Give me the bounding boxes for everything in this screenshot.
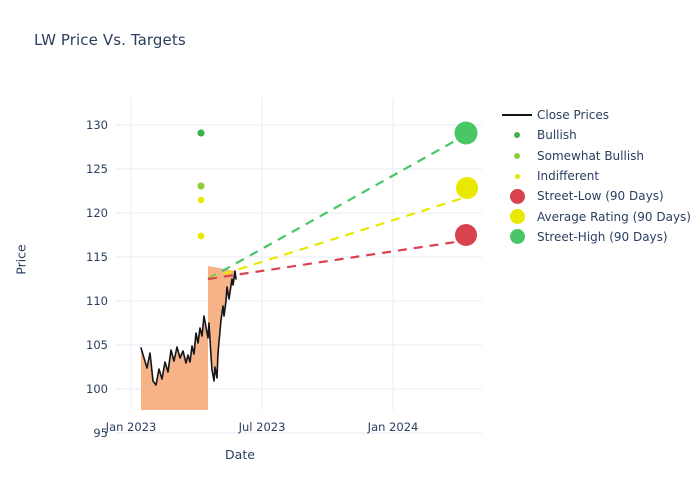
ytick-label: 130 — [48, 118, 108, 132]
legend-item-average-rating[interactable]: Average Rating (90 Days) — [500, 206, 700, 226]
dot-icon — [500, 174, 534, 179]
legend-item-label: Average Rating (90 Days) — [534, 210, 691, 224]
legend-item-street-high[interactable]: Street-High (90 Days) — [500, 227, 700, 247]
legend-item-close-prices[interactable]: Close Prices — [500, 105, 700, 125]
ytick-label: 110 — [48, 294, 108, 308]
legend-item-street-low[interactable]: Street-Low (90 Days) — [500, 186, 700, 206]
projection-line-street-low — [208, 241, 462, 279]
y-axis-title: Price — [14, 230, 29, 290]
scatter-point-somewhat-bullish — [197, 182, 204, 189]
dot-icon — [500, 132, 534, 138]
legend-item-label: Street-Low (90 Days) — [534, 189, 664, 203]
legend-item-indifferent[interactable]: Indifferent — [500, 166, 700, 186]
legend-item-label: Somewhat Bullish — [534, 149, 644, 163]
scatter-point-indifferent-1 — [198, 197, 204, 203]
legend-item-label: Close Prices — [534, 108, 609, 122]
projection-line-street-high — [208, 137, 462, 279]
chart-root: LW Price Vs. Targets — [0, 0, 700, 500]
line-icon — [500, 114, 534, 116]
ytick-label: 115 — [48, 250, 108, 264]
scatter-point-indifferent-2 — [198, 233, 205, 240]
legend-item-somewhat-bullish[interactable]: Somewhat Bullish — [500, 146, 700, 166]
xtick-label: Jul 2023 — [212, 420, 312, 434]
ytick-label: 125 — [48, 162, 108, 176]
xtick-label: Jan 2023 — [81, 420, 181, 434]
legend-item-label: Bullish — [534, 128, 577, 142]
legend-item-bullish[interactable]: Bullish — [500, 125, 700, 145]
ytick-label: 120 — [48, 206, 108, 220]
ytick-label: 100 — [48, 382, 108, 396]
target-marker-average-rating — [456, 177, 478, 199]
dot-icon — [500, 229, 534, 244]
legend-item-label: Indifferent — [534, 169, 599, 183]
legend-item-label: Street-High (90 Days) — [534, 230, 668, 244]
dot-icon — [500, 189, 534, 204]
dot-icon — [500, 209, 534, 224]
projection-line-average-rating — [208, 198, 463, 279]
xtick-label: Jan 2024 — [343, 420, 443, 434]
x-axis-title: Date — [0, 447, 480, 462]
target-marker-street-low — [455, 224, 477, 246]
legend: Close Prices Bullish Somewhat Bullish In… — [500, 105, 700, 247]
dot-icon — [500, 153, 534, 159]
ytick-label: 105 — [48, 338, 108, 352]
scatter-point-bullish — [197, 129, 204, 136]
target-marker-street-high — [455, 122, 478, 145]
